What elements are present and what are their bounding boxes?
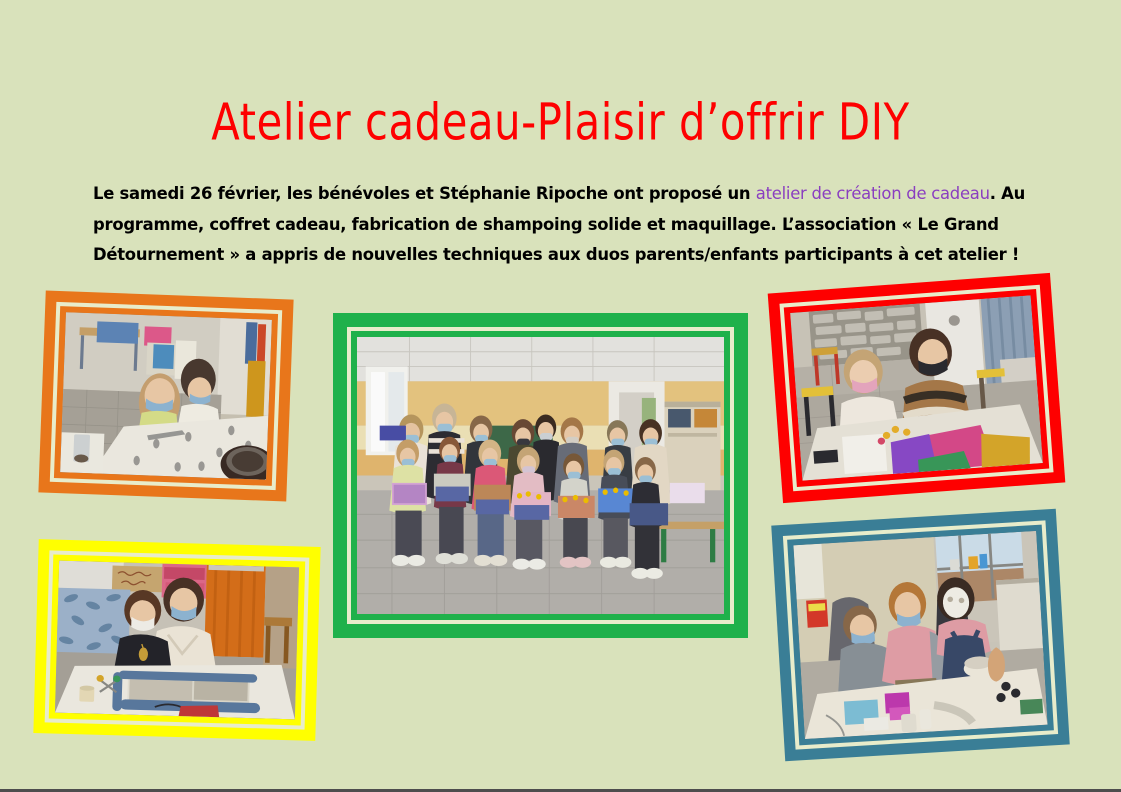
- photo-frame-green[interactable]: [333, 313, 748, 638]
- body-paragraph: Le samedi 26 février, les bénévoles et S…: [93, 179, 1027, 271]
- page-title: Atelier cadeau-Plaisir d’offrir DIY: [17, 96, 1104, 152]
- photo-green: [357, 337, 724, 614]
- photo-yellow: [55, 561, 299, 720]
- photo-mat-teal: [783, 520, 1058, 749]
- photo-teal: [793, 531, 1047, 739]
- photo-mat-yellow: [45, 550, 310, 729]
- photo-red: [790, 295, 1043, 480]
- photo-frame-teal[interactable]: [771, 509, 1069, 761]
- photo-mat-orange: [50, 302, 282, 490]
- photo-mat-green: [347, 327, 734, 624]
- photo-frame-yellow[interactable]: [33, 539, 320, 741]
- photo-frame-orange[interactable]: [38, 291, 293, 502]
- poster-page: Atelier cadeau-Plaisir d’offrir DIY Le s…: [0, 0, 1121, 792]
- photo-mat-red: [779, 285, 1053, 492]
- photo-frame-red[interactable]: [768, 273, 1066, 503]
- body-segment-1: Le samedi 26 février, les bénévoles et S…: [93, 184, 756, 203]
- photo-orange: [60, 312, 272, 479]
- body-highlight-1: atelier de création de cadeau: [756, 184, 990, 203]
